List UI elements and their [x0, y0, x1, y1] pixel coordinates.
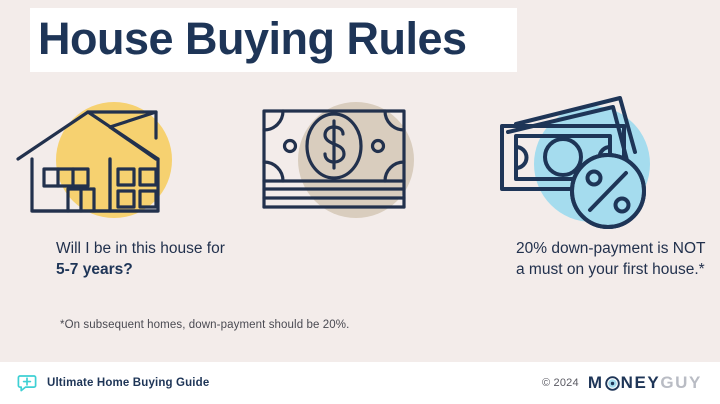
money-percent-icon-stage [480, 86, 720, 234]
rule-caption-1-bold: 5-7 years? [56, 261, 133, 278]
house-icon [0, 86, 240, 234]
footnote-text: *On subsequent homes, down-payment shoul… [60, 319, 349, 331]
rule-caption-1: Will I be in this house for 5-7 years? [56, 238, 242, 280]
rule-column-1: Will I be in this house for 5-7 years? [0, 86, 240, 316]
cash-stack-icon-stage [240, 86, 480, 234]
footer-guide-label: Ultimate Home Buying Guide [47, 377, 209, 389]
rule-column-2: 20% down-payment is NOT a must on your f… [240, 86, 480, 316]
footer-brand: © 2024 M NEY GUY [542, 373, 702, 393]
rules-columns: Will I be in this house for 5-7 years? [0, 86, 720, 316]
logo-text-ney: NEY [621, 373, 661, 393]
logo-text-m: M [588, 373, 604, 393]
logo-text-guy: GUY [660, 373, 702, 393]
moneyguy-logo: M NEY GUY [588, 373, 702, 393]
speech-bubble-plus-icon [16, 372, 38, 394]
cash-stack-icon [240, 86, 480, 234]
infographic-canvas: House Buying Rules [0, 0, 720, 404]
copyright-text: © 2024 [542, 377, 579, 389]
rule-column-3: Is the total monthly cost less than 25% … [480, 86, 720, 316]
rule-caption-1-lead: Will I be in this house for [56, 240, 225, 257]
footer-guide-link[interactable]: Ultimate Home Buying Guide [16, 372, 209, 394]
logo-o-mark-icon [605, 376, 620, 391]
house-icon-stage [0, 86, 240, 234]
money-percent-icon [480, 86, 720, 234]
page-title: House Buying Rules [38, 10, 508, 68]
footer-bar: Ultimate Home Buying Guide © 2024 M NEY … [0, 362, 720, 404]
